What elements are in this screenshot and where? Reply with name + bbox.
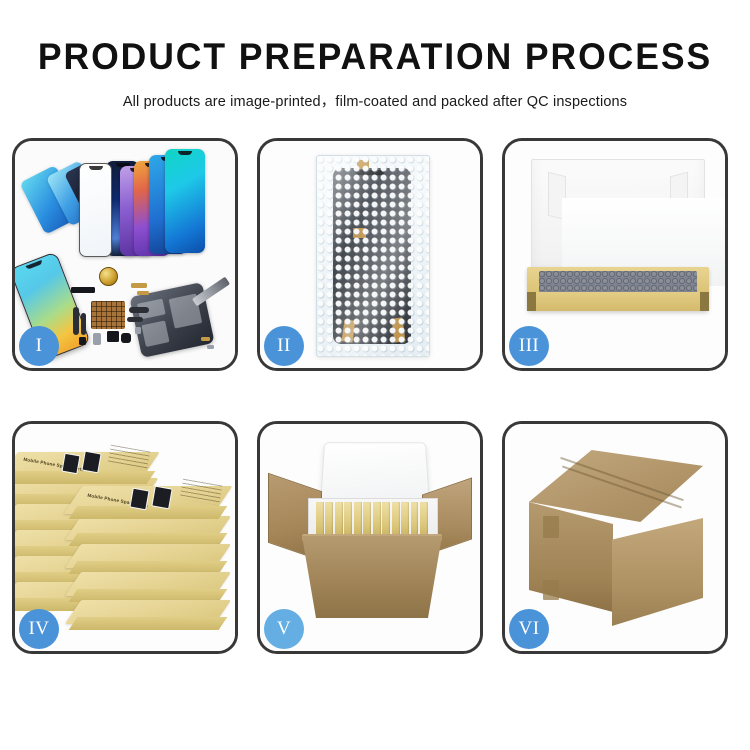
page-subtitle: All products are image-printed，film-coat…	[0, 90, 750, 111]
spare-part	[135, 327, 141, 334]
step-badge-4: IV	[19, 609, 59, 649]
spare-part	[79, 337, 86, 345]
stacked-box	[73, 516, 223, 540]
stacked-box	[73, 572, 223, 596]
tape-strip	[543, 580, 559, 600]
labelled-box-top: Mobile Phone Spare Parts	[15, 452, 151, 478]
flex-cable	[127, 317, 143, 322]
process-step-1: I	[12, 138, 238, 371]
process-step-3: III	[502, 138, 728, 371]
packed-boxes	[316, 502, 428, 538]
box-label-image	[81, 451, 101, 474]
box-label-image	[61, 453, 80, 474]
tape-strip	[543, 516, 559, 538]
sealed-carton	[521, 450, 711, 620]
header: PRODUCT PREPARATION PROCESS All products…	[0, 0, 750, 111]
bubble-wrap-bag	[316, 155, 430, 357]
step-badge-6: VI	[509, 609, 549, 649]
stacked-box	[73, 600, 223, 624]
camera-module-icon	[99, 267, 118, 286]
spare-part	[121, 333, 131, 343]
spare-part	[137, 291, 149, 295]
spare-part	[93, 333, 101, 345]
kraft-tray-box	[527, 267, 709, 311]
spare-part	[107, 331, 119, 342]
carton-right-face	[612, 518, 703, 626]
process-step-6: VI	[502, 421, 728, 654]
plastic-sheen	[317, 156, 429, 356]
process-step-5: V	[257, 421, 483, 654]
flex-cable	[81, 313, 86, 335]
step-badge-3: III	[509, 326, 549, 366]
spare-part	[71, 287, 95, 293]
process-step-4: Mobile Phone Spare Parts Mobile Phone Sp…	[12, 421, 238, 654]
flex-cable	[129, 307, 149, 313]
phone-display-fan	[103, 149, 233, 264]
step-badge-1: I	[19, 326, 59, 366]
stacked-box	[73, 544, 223, 568]
spare-part	[201, 337, 210, 341]
page-title: PRODUCT PREPARATION PROCESS	[15, 38, 735, 77]
spare-part	[131, 283, 147, 288]
connector-grid	[91, 301, 125, 329]
foam-lid	[531, 159, 705, 279]
glass-panel	[79, 163, 112, 257]
process-grid: I II	[12, 138, 738, 654]
labelled-box-front: Mobile Phone Spare Parts	[73, 486, 223, 514]
carton-left-face	[529, 502, 613, 612]
box-label-image	[129, 488, 149, 511]
carton-body	[302, 536, 442, 618]
spare-part	[207, 345, 214, 349]
process-step-2: II	[257, 138, 483, 371]
step-badge-2: II	[264, 326, 304, 366]
flex-cable	[73, 307, 79, 335]
step-badge-5: V	[264, 609, 304, 649]
bubble-wrapped-contents	[539, 271, 697, 293]
infographic-page: PRODUCT PREPARATION PROCESS All products…	[0, 0, 750, 750]
box-label-image	[151, 486, 172, 510]
